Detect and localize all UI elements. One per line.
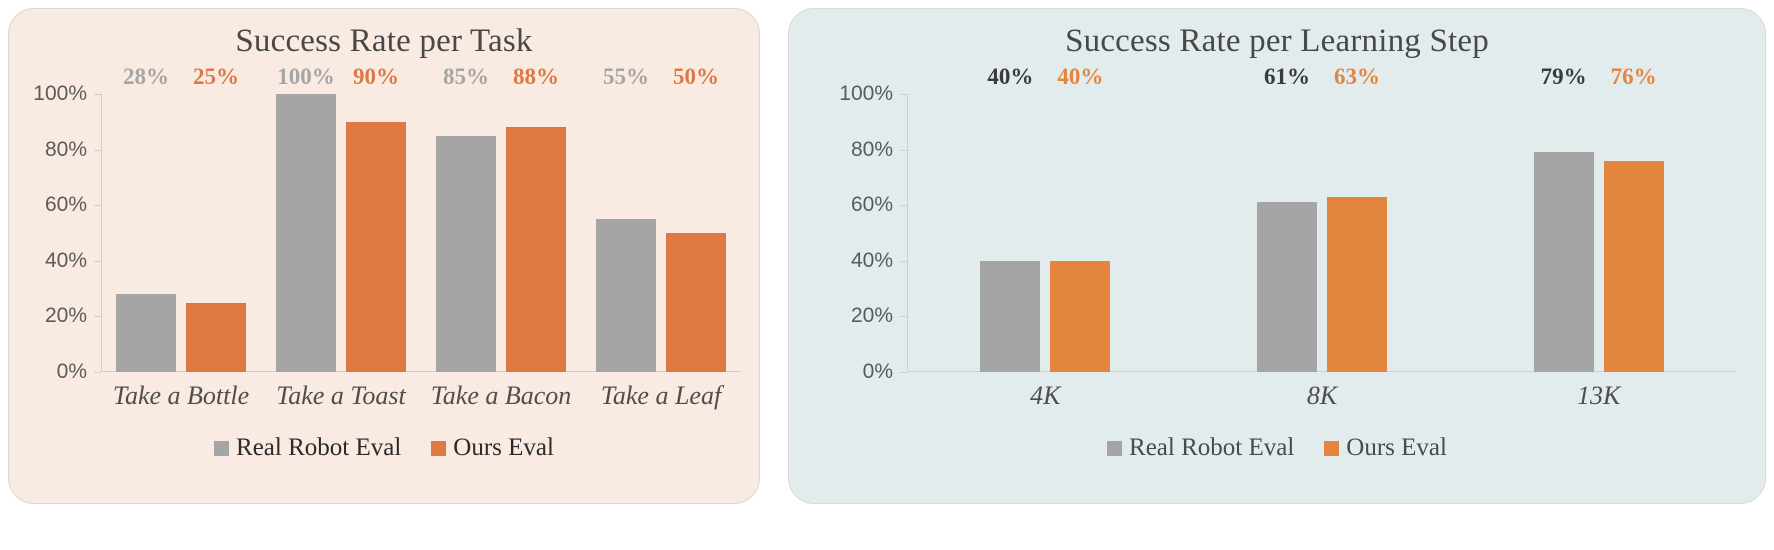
y-tick-label: 80% — [851, 138, 893, 162]
bar-ours-eval[interactable] — [1050, 261, 1110, 372]
chart-legend: Real Robot Eval Ours Eval — [9, 434, 759, 462]
bar-group: 100% 90% — [261, 94, 421, 372]
bar-ours-eval[interactable] — [186, 303, 246, 373]
category-label: Take a Toast — [261, 381, 421, 411]
legend-swatch-icon — [214, 441, 229, 456]
bar-value-label: 55% — [603, 64, 649, 90]
plot-area: 100% 80% 60% 40% 20% 0% 28% — [101, 94, 741, 372]
bar-real-robot-eval[interactable] — [436, 136, 496, 372]
legend-item-real-robot-eval[interactable]: Real Robot Eval — [1107, 434, 1294, 462]
category-label: 8K — [1184, 381, 1461, 411]
category-label: Take a Bottle — [101, 381, 261, 411]
bar-value-label: 85% — [443, 64, 489, 90]
legend-swatch-icon — [1324, 441, 1339, 456]
bar-value-label: 100% — [277, 64, 335, 90]
bar-container: 79% — [1534, 94, 1594, 372]
legend-label: Real Robot Eval — [236, 434, 401, 462]
category-label: Take a Leaf — [581, 381, 741, 411]
bar-container: 28% — [116, 94, 176, 372]
bar-group: 85% 88% — [421, 94, 581, 372]
bar-container: 85% — [436, 94, 496, 372]
y-tick-label: 60% — [45, 193, 87, 217]
legend-item-real-robot-eval[interactable]: Real Robot Eval — [214, 434, 401, 462]
bar-real-robot-eval[interactable] — [1534, 152, 1594, 372]
y-tick-label: 80% — [45, 138, 87, 162]
bar-real-robot-eval[interactable] — [276, 94, 336, 372]
bar-container: 61% — [1257, 94, 1317, 372]
y-tick-label: 0% — [863, 360, 893, 384]
y-tick-label: 60% — [851, 193, 893, 217]
bar-group: 61% 63% — [1184, 94, 1461, 372]
bar-value-label: 79% — [1541, 64, 1587, 90]
bar-ours-eval[interactable] — [506, 127, 566, 372]
bar-ours-eval[interactable] — [1604, 161, 1664, 372]
bar-value-label: 40% — [1057, 64, 1103, 90]
y-tick-label: 100% — [839, 82, 893, 106]
y-tick-label: 40% — [851, 249, 893, 273]
y-tick-label: 20% — [851, 304, 893, 328]
y-tick-label: 40% — [45, 249, 87, 273]
category-label: Take a Bacon — [421, 381, 581, 411]
legend-label: Real Robot Eval — [1129, 434, 1294, 462]
bar-container: 88% — [506, 94, 566, 372]
bar-container: 40% — [980, 94, 1040, 372]
plot-area: 100% 80% 60% 40% 20% 0% 40% — [907, 94, 1737, 372]
category-label: 13K — [1460, 381, 1737, 411]
legend-item-ours-eval[interactable]: Ours Eval — [431, 434, 554, 462]
bar-container: 50% — [666, 94, 726, 372]
bar-ours-eval[interactable] — [346, 122, 406, 372]
bar-real-robot-eval[interactable] — [116, 294, 176, 372]
bar-groups: 28% 25% 100% 90% — [101, 94, 741, 372]
bar-group: 79% 76% — [1460, 94, 1737, 372]
bar-container: 25% — [186, 94, 246, 372]
bar-value-label: 76% — [1611, 64, 1657, 90]
bar-real-robot-eval[interactable] — [980, 261, 1040, 372]
legend-swatch-icon — [431, 441, 446, 456]
bar-container: 40% — [1050, 94, 1110, 372]
bar-value-label: 50% — [673, 64, 719, 90]
y-tick-label: 20% — [45, 304, 87, 328]
category-axis-labels: Take a Bottle Take a Toast Take a Bacon … — [101, 381, 741, 411]
chart-panel-task: Success Rate per Task 100% 80% 60% 40% 2… — [8, 8, 760, 504]
chart-title: Success Rate per Task — [9, 23, 759, 60]
bar-real-robot-eval[interactable] — [1257, 202, 1317, 372]
bar-groups: 40% 40% 61% 63% — [907, 94, 1737, 372]
bar-value-label: 40% — [987, 64, 1033, 90]
bar-group: 40% 40% — [907, 94, 1184, 372]
bar-value-label: 25% — [193, 64, 239, 90]
bar-value-label: 90% — [353, 64, 399, 90]
legend-label: Ours Eval — [453, 434, 554, 462]
legend-swatch-icon — [1107, 441, 1122, 456]
figure-canvas: Success Rate per Task 100% 80% 60% 40% 2… — [0, 0, 1774, 550]
bar-value-label: 63% — [1334, 64, 1380, 90]
bar-container: 100% — [276, 94, 336, 372]
category-axis-labels: 4K 8K 13K — [907, 381, 1737, 411]
bar-value-label: 88% — [513, 64, 559, 90]
bar-container: 63% — [1327, 94, 1387, 372]
legend-item-ours-eval[interactable]: Ours Eval — [1324, 434, 1447, 462]
bar-container: 90% — [346, 94, 406, 372]
chart-title: Success Rate per Learning Step — [789, 23, 1765, 60]
y-tick-label: 0% — [57, 360, 87, 384]
bar-value-label: 61% — [1264, 64, 1310, 90]
chart-panel-learning-step: Success Rate per Learning Step 100% 80% … — [788, 8, 1766, 504]
y-tick-label: 100% — [33, 82, 87, 106]
bar-ours-eval[interactable] — [1327, 197, 1387, 372]
bar-group: 55% 50% — [581, 94, 741, 372]
bar-value-label: 28% — [123, 64, 169, 90]
legend-label: Ours Eval — [1346, 434, 1447, 462]
bar-container: 55% — [596, 94, 656, 372]
category-label: 4K — [907, 381, 1184, 411]
chart-legend: Real Robot Eval Ours Eval — [789, 434, 1765, 462]
bar-group: 28% 25% — [101, 94, 261, 372]
bar-ours-eval[interactable] — [666, 233, 726, 372]
bar-container: 76% — [1604, 94, 1664, 372]
bar-real-robot-eval[interactable] — [596, 219, 656, 372]
